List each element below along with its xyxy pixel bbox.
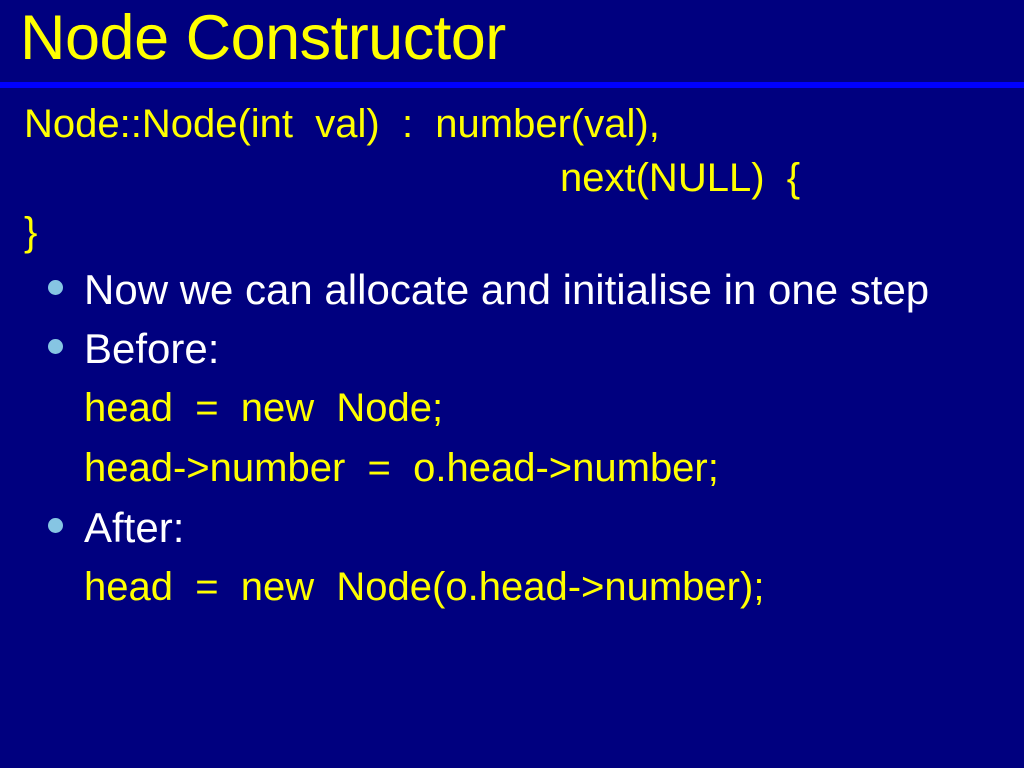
list-item-label: Now we can allocate and initialise in on… <box>84 260 934 319</box>
slide-title-area: Node Constructor <box>0 0 1024 90</box>
code-line-after-alloc: head = new Node(o.head->number); <box>84 557 1024 617</box>
code-line-closing-brace: } <box>24 204 37 260</box>
bullet-list: Now we can allocate and initialise in on… <box>0 260 1024 617</box>
page-title: Node Constructor <box>20 1 506 75</box>
title-divider <box>0 82 1024 88</box>
slide-body: Node::Node(int val) : number(val), next(… <box>0 92 1024 768</box>
list-item: After: head = new Node(o.head->number); <box>0 498 1024 617</box>
code-line-initializer-next-text: next(NULL) { <box>560 156 800 200</box>
code-line-constructor-signature: Node::Node(int val) : number(val), <box>24 96 660 152</box>
code-line-before-alloc: head = new Node; <box>84 378 1024 438</box>
slide: Node Constructor Node::Node(int val) : n… <box>0 0 1024 768</box>
filled-circle-bullet-icon <box>48 518 63 533</box>
filled-circle-bullet-icon <box>48 339 63 354</box>
list-item: Now we can allocate and initialise in on… <box>0 260 1024 319</box>
list-item-label: Before: <box>84 319 934 378</box>
list-item-label: After: <box>84 498 934 557</box>
list-item: Before: head = new Node; head->number = … <box>0 319 1024 498</box>
code-line-before-assign: head->number = o.head->number; <box>84 438 1024 498</box>
filled-circle-bullet-icon <box>48 280 63 295</box>
code-line-initializer-next: next(NULL) { <box>24 150 800 206</box>
